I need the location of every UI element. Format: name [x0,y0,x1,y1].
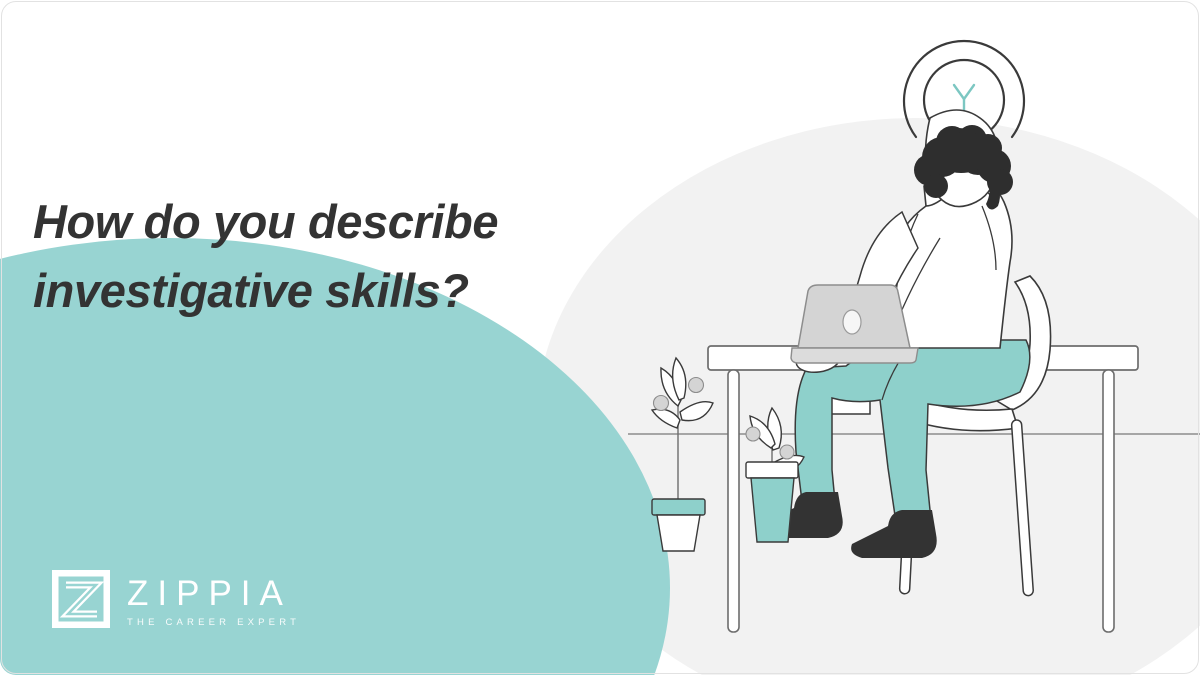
zippia-article-card: How do you describe investigative skills… [0,0,1200,675]
zippia-logo[interactable]: ZIPPIA THE CAREER EXPERT [52,570,300,633]
pot-rim-left [652,499,705,515]
chair-leg-back [1011,420,1033,596]
headline-line-2: investigative skills? [33,257,633,326]
illustration-person-at-desk [560,0,1200,675]
pot-rim-right [746,462,798,478]
plant-left [652,358,713,551]
desk-leg-left [728,370,739,632]
page-title: How do you describe investigative skills… [33,188,633,325]
zippia-logo-text: ZIPPIA THE CAREER EXPERT [127,576,300,628]
person-legs [759,340,1030,558]
laptop [791,285,918,363]
pot-body-left [657,515,700,551]
headline-line-1: How do you describe [33,188,633,257]
zippia-tagline: THE CAREER EXPERT [127,618,300,628]
pot-body-right [751,478,794,542]
shoe-front [851,510,937,558]
laptop-base [791,348,918,363]
zippia-z-mark-icon [52,570,110,633]
laptop-logo [843,310,861,334]
desk-leg-right [1103,370,1114,632]
zippia-wordmark: ZIPPIA [127,576,300,611]
